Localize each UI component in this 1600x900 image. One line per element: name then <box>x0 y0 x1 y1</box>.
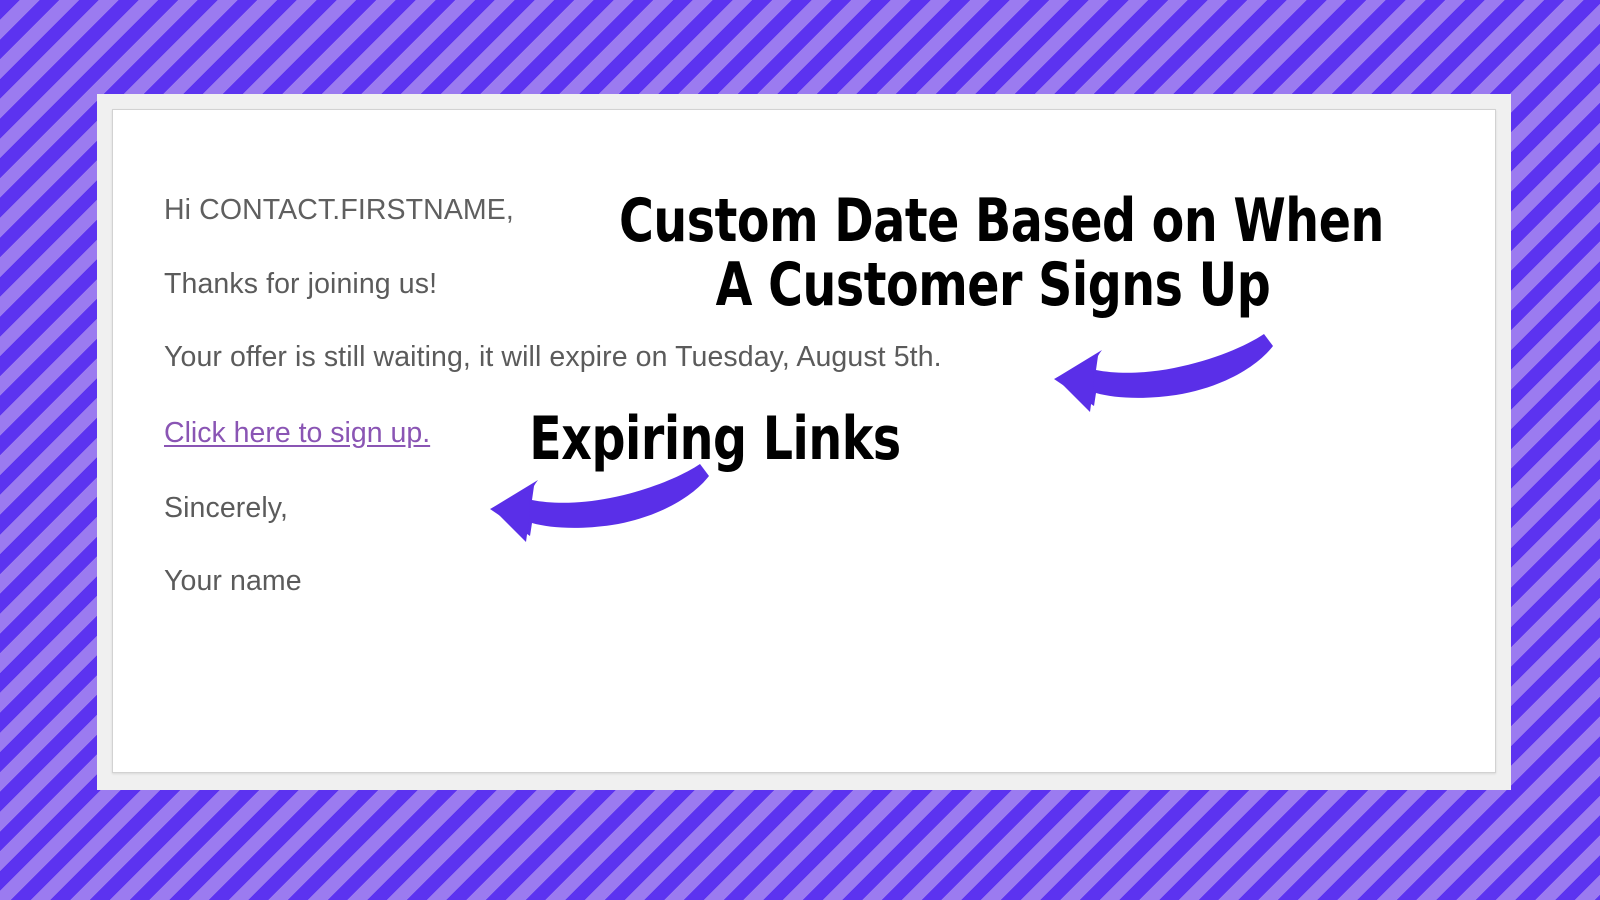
email-body: Hi CONTACT.FIRSTNAME, Thanks for joining… <box>164 196 1414 596</box>
email-preview-card: Hi CONTACT.FIRSTNAME, Thanks for joining… <box>97 94 1511 790</box>
signup-link[interactable]: Click here to sign up. <box>164 417 430 449</box>
email-link-line: Click here to sign up. <box>164 417 1414 450</box>
email-canvas: Hi CONTACT.FIRSTNAME, Thanks for joining… <box>112 109 1496 773</box>
email-closing: Sincerely, <box>164 494 1414 523</box>
email-thanks-line: Thanks for joining us! <box>164 270 1414 299</box>
email-offer-line: Your offer is still waiting, it will exp… <box>164 343 1414 372</box>
email-greeting: Hi CONTACT.FIRSTNAME, <box>164 196 1414 225</box>
email-signature: Your name <box>164 567 1414 596</box>
